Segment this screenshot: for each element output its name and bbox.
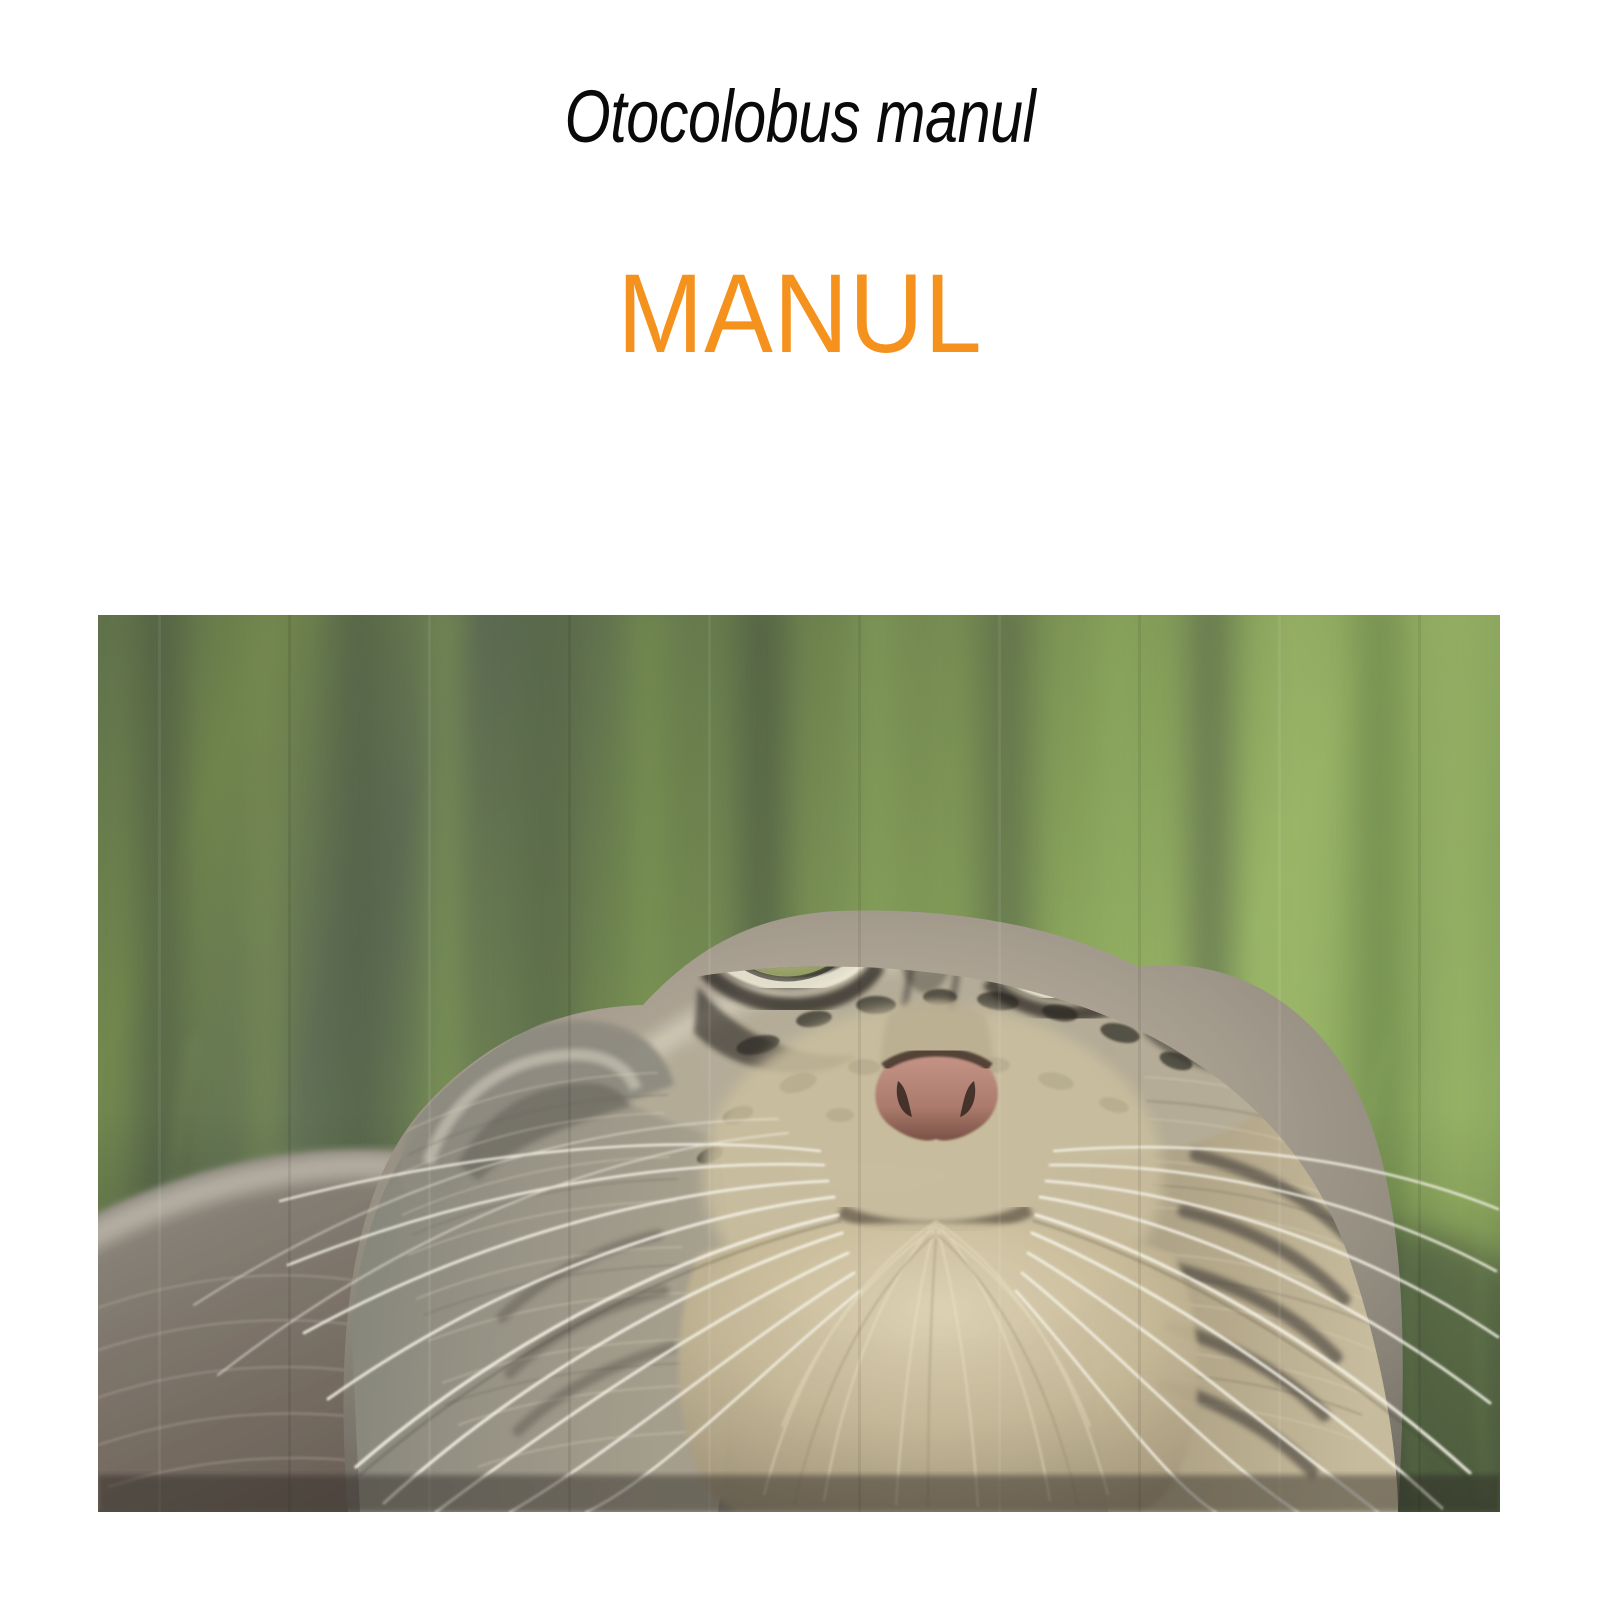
- page-title: Otocolobus manul: [160, 78, 1440, 156]
- manul-photo: [98, 615, 1500, 1512]
- common-name-heading: MANUL: [64, 258, 1536, 370]
- slide-canvas: Otocolobus manul MANUL: [0, 0, 1600, 1600]
- manul-photo-illustration: [98, 615, 1500, 1512]
